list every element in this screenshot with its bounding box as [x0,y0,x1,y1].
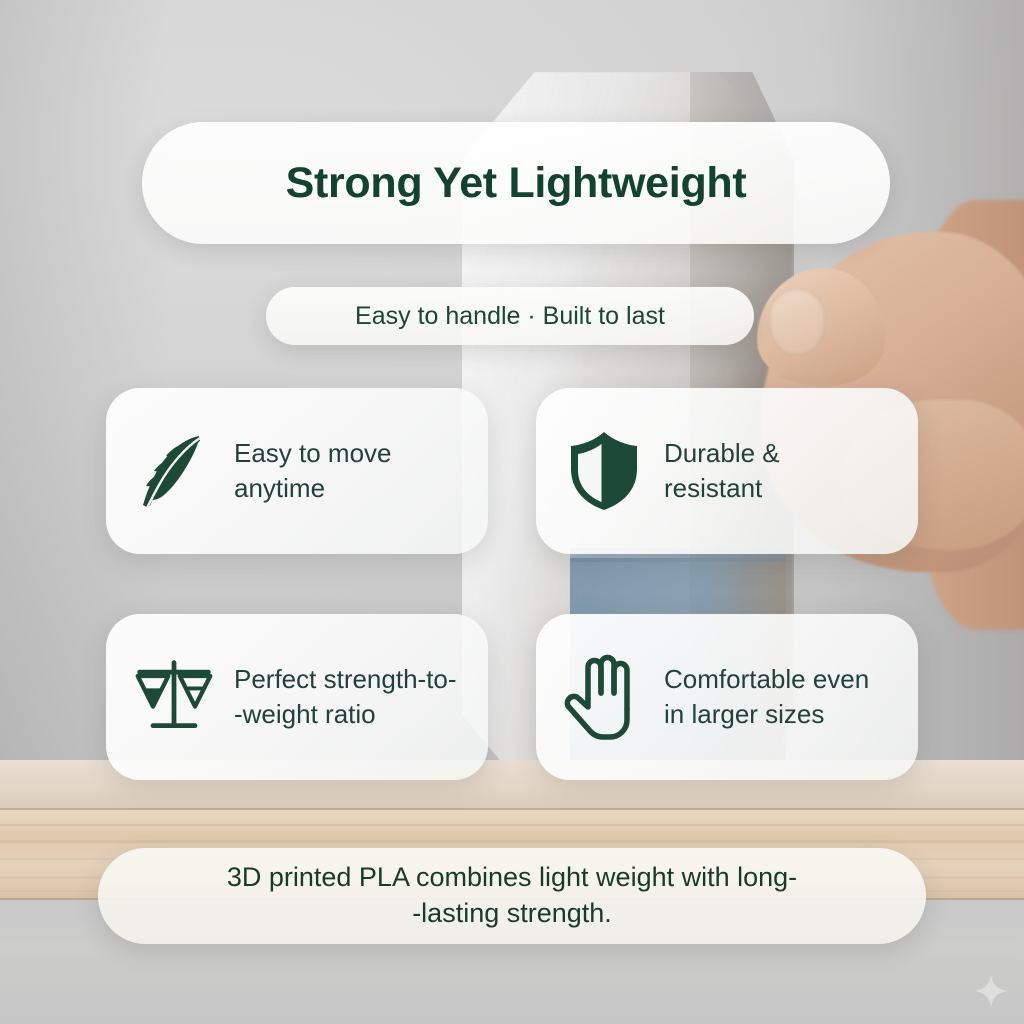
feature-label-line-1: Easy to move [234,438,392,468]
subtitle-pill: Easy to handle · Built to last [266,287,754,345]
footer-pill: 3D printed PLA combines light weight wit… [98,848,926,944]
balance-scale-icon [132,653,216,741]
title-pill: Strong Yet Lightweight [142,122,890,244]
footer-line-1: 3D printed PLA combines light weight wit… [227,862,797,892]
feature-card-label: Perfect strength-to- -weight ratio [234,662,457,733]
feature-card-label: Durable & resistant [664,436,780,507]
feature-label-line-2: in larger sizes [664,699,824,729]
feather-icon [132,427,216,515]
overlay-layer: Strong Yet Lightweight Easy to handle · … [0,0,1024,1024]
feature-label-line-2: anytime [234,473,325,503]
page-subtitle: Easy to handle · Built to last [355,302,665,331]
hand-icon [562,653,646,741]
feature-card-label: Easy to move anytime [234,436,392,507]
feature-card-strength-to-weight: Perfect strength-to- -weight ratio [106,614,488,780]
feature-card-comfortable: Comfortable even in larger sizes [536,614,918,780]
sparkle-icon [974,974,1008,1008]
product-feature-poster: Strong Yet Lightweight Easy to handle · … [0,0,1024,1024]
feature-card-label: Comfortable even in larger sizes [664,662,869,733]
feature-label-line-2: resistant [664,473,762,503]
footer-caption: 3D printed PLA combines light weight wit… [227,860,797,931]
feature-card-durable: Durable & resistant [536,388,918,554]
feature-card-easy-to-move: Easy to move anytime [106,388,488,554]
feature-label-line-1: Perfect strength-to- [234,664,457,694]
shield-icon [562,427,646,515]
feature-label-line-1: Comfortable even [664,664,869,694]
page-title: Strong Yet Lightweight [286,159,747,208]
feature-label-line-1: Durable & [664,438,780,468]
footer-line-2: -lasting strength. [412,898,612,928]
feature-label-line-2: -weight ratio [234,699,376,729]
